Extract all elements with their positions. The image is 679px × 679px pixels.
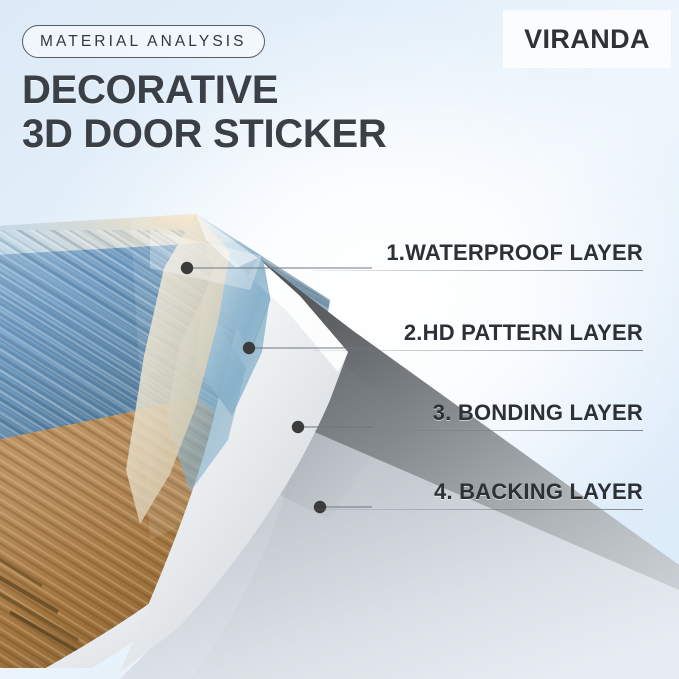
callout-rule-2 [313,350,643,351]
badge-label: MATERIAL ANALYSIS [40,33,247,51]
callout-text-1: 1.WATERPROOF LAYER [386,240,643,266]
callout-dot-2 [243,342,255,354]
infographic-poster: MATERIAL ANALYSIS DECORATIVE 3D DOOR STI… [0,0,679,679]
callout-dot-1 [181,262,193,274]
callout-label-2: 2.HD PATTERN LAYER [313,320,643,351]
callout-rule-1 [313,270,643,271]
callout-rule-3 [313,430,643,431]
callout-text-2: 2.HD PATTERN LAYER [404,320,643,346]
callout-label-4: 4. BACKING LAYER [313,479,643,510]
callout-rule-4 [313,509,643,510]
page-title: DECORATIVE 3D DOOR STICKER [22,68,386,156]
title-line-2: 3D DOOR STICKER [22,112,386,156]
callout-label-3: 3. BONDING LAYER [313,400,643,431]
callout-label-1: 1.WATERPROOF LAYER [313,240,643,271]
title-line-1: DECORATIVE [22,68,278,112]
callout-text-3: 3. BONDING LAYER [433,400,643,426]
brand-name: VIRANDA [524,24,650,55]
brand-logo: VIRANDA [503,10,671,68]
callout-dot-3 [292,421,304,433]
material-analysis-badge: MATERIAL ANALYSIS [22,25,265,58]
callout-text-4: 4. BACKING LAYER [434,479,643,505]
